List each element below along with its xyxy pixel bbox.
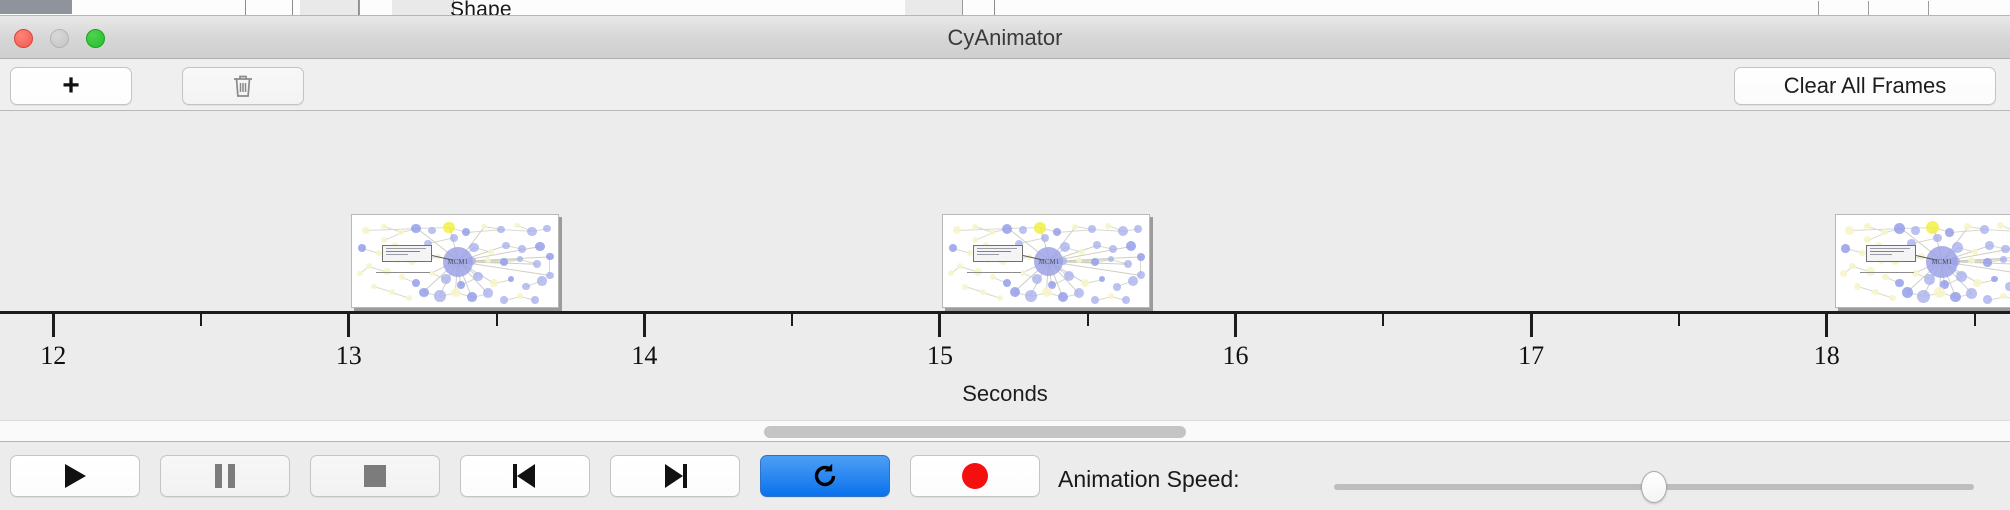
axis-tick-label: 18 (1814, 341, 1840, 371)
skip-next-icon (663, 464, 687, 488)
network-node (1019, 226, 1027, 234)
hub-node-mcm1: MCM1 (1926, 246, 1958, 278)
timeline-panel[interactable]: MCM1MCM1MCM1 12131415161718 Seconds (0, 111, 2010, 420)
plus-icon: + (62, 71, 80, 101)
network-node (1137, 271, 1145, 279)
frames-container: MCM1MCM1MCM1 (0, 111, 2010, 311)
network-node (1841, 244, 1850, 253)
axis-tick-minor (791, 314, 793, 326)
network-node (989, 229, 995, 235)
axis-tick-minor (1382, 314, 1384, 326)
network-node (972, 224, 978, 230)
background-divider (245, 0, 246, 16)
network-node (1926, 221, 1939, 234)
network-node (1966, 288, 1977, 299)
loop-icon (810, 461, 840, 491)
background-tab (300, 0, 360, 16)
network-node (1041, 234, 1049, 242)
axis-tick-major (52, 314, 55, 337)
network-preview: MCM1 (354, 217, 556, 305)
network-node (411, 224, 421, 234)
pause-icon (215, 464, 235, 488)
axis-line (0, 311, 2010, 314)
background-divider (1868, 1, 1869, 16)
network-node (535, 242, 545, 252)
axis-tick-major (1530, 314, 1533, 337)
network-node (488, 249, 494, 255)
network-node (1864, 236, 1870, 242)
background-window-titlebar (0, 0, 72, 14)
axis-tick-major (938, 314, 941, 337)
network-node (543, 225, 551, 233)
network-node (514, 223, 520, 229)
record-icon (962, 463, 988, 489)
network-node (389, 289, 395, 295)
network-node (1032, 274, 1042, 284)
network-node (1983, 258, 1992, 267)
axis-tick-label: 12 (40, 341, 66, 371)
axis-tick-minor (200, 314, 202, 326)
axis-tick-label: 13 (336, 341, 362, 371)
network-node (1128, 276, 1138, 286)
toolbar: + Clear All Frames (0, 59, 2010, 111)
background-window-label: Shape (450, 0, 512, 16)
network-node (462, 228, 470, 236)
network-node (1010, 287, 1020, 297)
network-node (527, 227, 537, 237)
skip-next-button[interactable] (610, 455, 740, 497)
network-tooltip (1866, 245, 1916, 262)
frame-thumbnail[interactable]: MCM1 (1835, 214, 2010, 308)
network-node (1889, 295, 1895, 301)
network-node (1983, 295, 1992, 304)
axis-tick-minor (496, 314, 498, 326)
network-node (1118, 226, 1128, 236)
axis-tick-label: 17 (1518, 341, 1544, 371)
network-node (441, 274, 451, 284)
network-node (948, 270, 954, 276)
axis-tick-label: 16 (1223, 341, 1249, 371)
network-node (1933, 234, 1942, 243)
slider-thumb[interactable] (1641, 471, 1667, 503)
network-node (399, 274, 405, 280)
axis-tick-minor (1678, 314, 1680, 326)
network-node (949, 244, 957, 252)
network-node (972, 237, 978, 243)
network-node (469, 243, 479, 253)
network-node (1134, 225, 1142, 233)
network-node (1917, 290, 1930, 303)
network-node (1053, 228, 1061, 236)
network-caption (376, 272, 430, 273)
network-node (1042, 287, 1052, 297)
axis-tick-major (643, 314, 646, 337)
network-node (502, 242, 510, 250)
network-node (500, 258, 508, 266)
axis-tick-label: 15 (927, 341, 953, 371)
animation-speed-label: Animation Speed: (1058, 466, 1240, 493)
network-node (1091, 258, 1099, 266)
timeline-scrollbar[interactable] (0, 420, 2010, 442)
network-node (1945, 228, 1954, 237)
scrollbar-thumb[interactable] (764, 426, 1186, 438)
network-node (1074, 288, 1084, 298)
network-node (2000, 256, 2006, 262)
network-edge (466, 229, 501, 233)
network-node (1099, 276, 1105, 282)
network-node (531, 296, 539, 304)
network-node (1911, 226, 1920, 235)
trash-icon (231, 73, 255, 99)
background-divider (1818, 1, 1819, 16)
pause-button[interactable] (160, 455, 290, 497)
axis-tick-major (1234, 314, 1237, 337)
frame-thumbnail[interactable]: MCM1 (942, 214, 1150, 308)
network-node (483, 288, 493, 298)
network-node (1108, 256, 1114, 262)
network-node (537, 276, 547, 286)
network-node (1064, 271, 1074, 281)
network-tooltip (382, 245, 432, 262)
network-node (428, 227, 436, 235)
network-node (434, 290, 446, 302)
network-node (1088, 225, 1096, 233)
network-node (485, 257, 491, 263)
network-node (1840, 270, 1846, 276)
network-caption (967, 272, 1021, 273)
network-node (1964, 223, 1970, 229)
axis-tick-label: 14 (631, 341, 657, 371)
delete-frame-button[interactable] (182, 67, 304, 105)
network-node (1882, 274, 1888, 280)
network-node (1845, 226, 1854, 235)
network-tooltip (973, 245, 1023, 262)
network-node (1072, 224, 1078, 230)
network-node (1034, 222, 1046, 234)
network-node (1968, 257, 1974, 263)
network-node (1956, 271, 1967, 282)
network-node (2001, 245, 2010, 254)
network-node (1895, 279, 1904, 288)
network-node (518, 245, 526, 253)
network-node (1980, 225, 1989, 234)
network-node (1105, 223, 1111, 229)
background-divider (292, 0, 293, 16)
network-node (517, 293, 523, 299)
network-node (406, 295, 412, 301)
network-node (398, 229, 404, 235)
network-node (451, 288, 461, 298)
network-node (366, 263, 372, 269)
network-node (1081, 279, 1089, 287)
network-node (546, 272, 554, 280)
animation-speed-slider[interactable] (1334, 484, 1974, 490)
network-node (1950, 292, 1961, 303)
cyanimator-window: Shape CyAnimator + Clear All Frames MCM1… (0, 0, 2010, 510)
network-node (376, 250, 382, 256)
playback-controls: Animation Speed: (0, 442, 2010, 510)
network-node (1091, 296, 1099, 304)
background-tab (905, 0, 963, 16)
clear-all-frames-button[interactable]: Clear All Frames (1734, 67, 1996, 105)
background-tab (392, 0, 454, 16)
network-node (517, 256, 523, 262)
network-node (381, 237, 387, 243)
background-divider (1928, 1, 1929, 16)
axis-title: Seconds (0, 381, 2010, 407)
network-node (962, 284, 968, 290)
skip-previous-icon (513, 464, 537, 488)
network-node (443, 222, 455, 234)
network-node (1137, 253, 1145, 261)
network-node (1003, 279, 1011, 287)
network-node (450, 234, 458, 242)
network-caption (1860, 272, 1914, 273)
background-divider (994, 0, 995, 16)
network-node (1971, 249, 1977, 255)
network-node (1108, 293, 1114, 299)
network-node (980, 289, 986, 295)
record-button[interactable] (910, 455, 1040, 497)
background-divider (358, 0, 359, 16)
network-node (1058, 292, 1068, 302)
network-node (1849, 263, 1855, 269)
network-node (953, 226, 961, 234)
network-node (1122, 296, 1130, 304)
network-node (508, 276, 514, 282)
network-node (500, 296, 508, 304)
network-node (357, 271, 363, 277)
clear-all-frames-label: Clear All Frames (1784, 73, 1947, 99)
axis-tick-major (347, 314, 350, 337)
skip-previous-button[interactable] (460, 455, 590, 497)
network-node (1002, 224, 1012, 234)
network-node (1124, 260, 1132, 268)
network-node (490, 279, 498, 287)
network-node (522, 283, 530, 291)
axis-tick-minor (1087, 314, 1089, 326)
axis-tick-minor (1974, 314, 1976, 326)
network-node (546, 253, 554, 261)
add-frame-button[interactable]: + (10, 67, 132, 105)
timeline-axis: 12131415161718 Seconds (0, 311, 2010, 420)
network-node (1997, 222, 2003, 228)
window-title: CyAnimator (0, 16, 2010, 59)
network-node (362, 227, 370, 235)
network-node (1060, 242, 1070, 252)
network-node (1113, 283, 1121, 291)
network-node (1985, 241, 1994, 250)
network-node (1902, 287, 1913, 298)
network-preview: MCM1 (1838, 217, 2010, 305)
hub-node-mcm1: MCM1 (443, 247, 473, 277)
network-node (1854, 283, 1860, 289)
network-node (957, 263, 963, 269)
frame-thumbnail[interactable]: MCM1 (351, 214, 559, 308)
stop-button[interactable] (310, 455, 440, 497)
network-node (497, 226, 505, 234)
network-node (997, 295, 1003, 301)
network-edge (1057, 229, 1092, 233)
network-node (1872, 289, 1878, 295)
network-node (533, 260, 541, 268)
network-node (1109, 245, 1117, 253)
network-node (1864, 223, 1870, 229)
play-button[interactable] (10, 455, 140, 497)
network-node (419, 288, 429, 298)
network-node (412, 279, 420, 287)
play-icon (65, 464, 86, 488)
network-node (1881, 229, 1887, 235)
network-node (1973, 279, 1982, 288)
network-node (1093, 241, 1101, 249)
network-node (2000, 293, 2006, 299)
network-node (1126, 241, 1136, 251)
network-preview: MCM1 (945, 217, 1147, 305)
network-node (1894, 223, 1905, 234)
title-bar[interactable]: CyAnimator (0, 16, 2010, 59)
network-node (467, 292, 477, 302)
network-node (1079, 249, 1085, 255)
network-node (358, 244, 366, 252)
stop-icon (364, 465, 386, 487)
network-node (473, 272, 483, 282)
axis-tick-major (1825, 314, 1828, 337)
network-node (371, 284, 377, 290)
network-node (1025, 290, 1037, 302)
network-node (1934, 287, 1945, 298)
background-window-strip: Shape (0, 0, 2010, 16)
network-node (481, 224, 487, 230)
network-node (1991, 276, 1997, 282)
loop-button[interactable] (760, 455, 890, 497)
network-node (2005, 282, 2010, 291)
network-node (381, 224, 387, 230)
